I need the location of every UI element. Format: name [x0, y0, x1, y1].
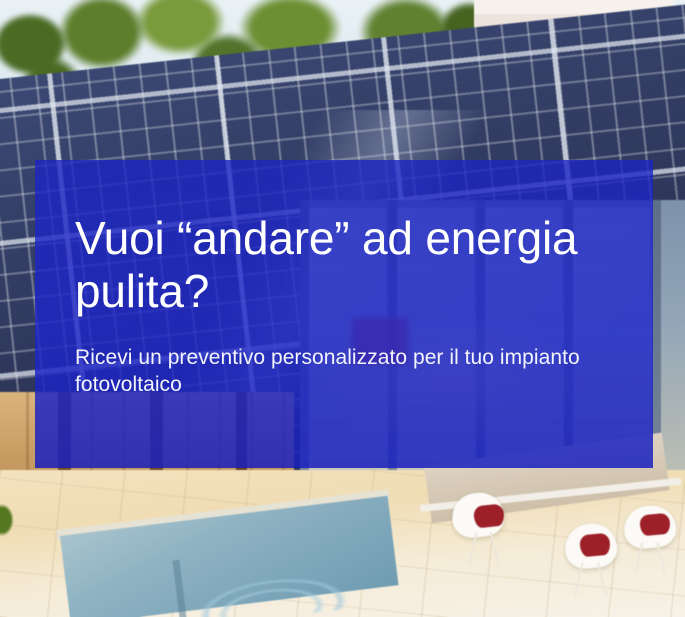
- chair-cushion: [579, 533, 611, 558]
- chair-cushion: [473, 503, 505, 528]
- solar-energy-hero-banner: Vuoi “andare” ad energia pulita? Ricevi …: [0, 0, 685, 617]
- hero-overlay-card: Vuoi “andare” ad energia pulita? Ricevi …: [35, 160, 653, 468]
- chair-cushion: [639, 513, 671, 537]
- hero-overlay-text-block: Vuoi “andare” ad energia pulita? Ricevi …: [75, 212, 629, 398]
- hero-heading: Vuoi “andare” ad energia pulita?: [75, 212, 629, 318]
- shrub-sprig: [0, 500, 22, 540]
- hero-subheading: Ricevi un preventivo personalizzato per …: [75, 344, 600, 398]
